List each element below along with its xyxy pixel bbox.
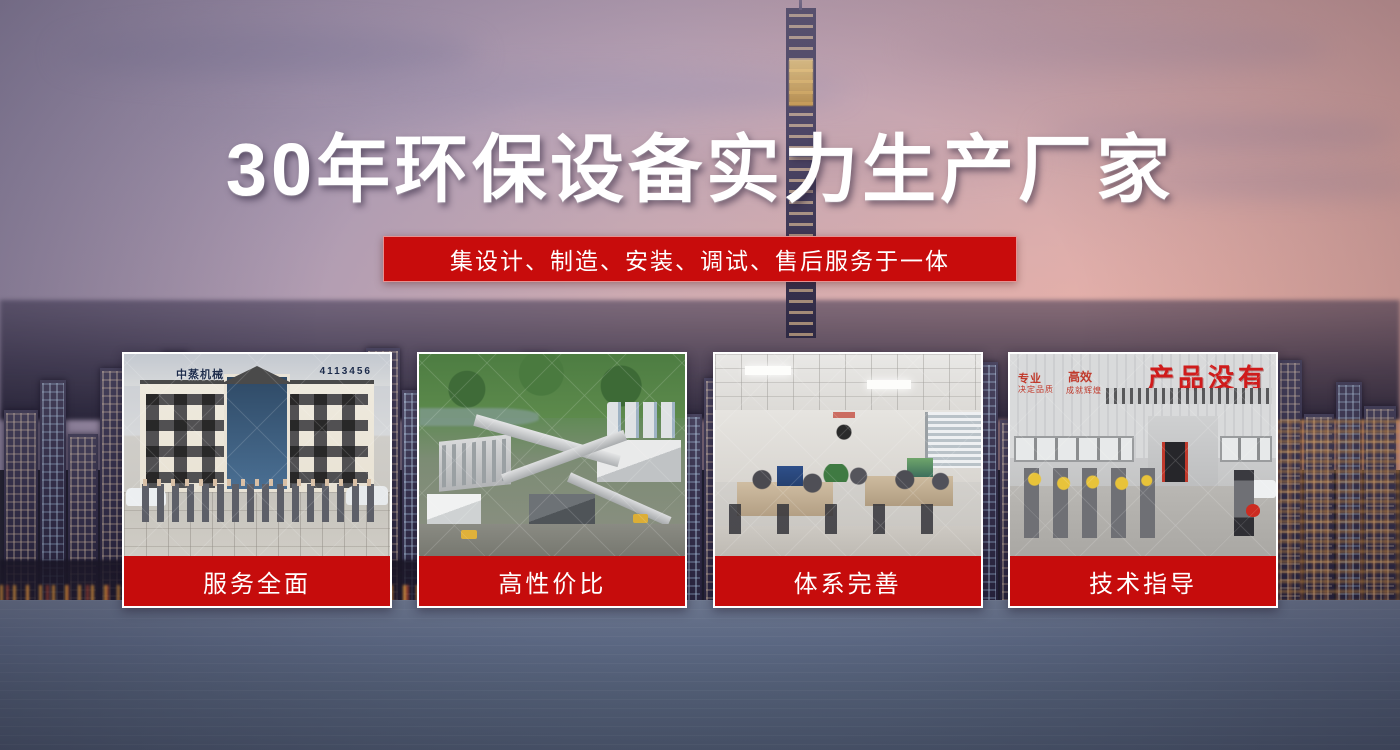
workers-training-photo: 决定品质 成就辉煌 专业 高效 产品没有 [1010, 354, 1276, 556]
factory-slogan-a: 专业 [1018, 370, 1042, 386]
industrial-plant-aerial-photo [419, 354, 685, 556]
card-label: 服务全面 [124, 556, 390, 606]
card-label: 高性价比 [419, 556, 685, 606]
cloud [60, 30, 480, 78]
river-water [0, 600, 1400, 750]
feature-card-system[interactable]: 体系完善 [713, 352, 983, 608]
card-label: 技术指导 [1010, 556, 1276, 606]
factory-slogan-b: 高效 [1068, 368, 1092, 385]
tower-crown-light [789, 60, 813, 106]
feature-card-row: 中蒸机械 4113456 服务全面 [122, 352, 1278, 608]
card-label: 体系完善 [715, 556, 981, 606]
feature-card-training[interactable]: 决定品质 成就辉煌 专业 高效 产品没有 技术指导 [1008, 352, 1278, 608]
subtitle-banner: 集设计、制造、安装、调试、售后服务于一体 [383, 236, 1017, 282]
feature-card-value[interactable]: 高性价比 [417, 352, 687, 608]
cloud [330, 70, 850, 110]
office-interior-photo [715, 354, 981, 556]
cloud [900, 28, 1330, 68]
promotional-banner: 30年环保设备实力生产厂家 集设计、制造、安装、调试、售后服务于一体 中蒸机械 … [0, 0, 1400, 750]
headline-title: 30年环保设备实力生产厂家 [0, 133, 1400, 207]
building-sign-number: 4113456 [320, 366, 372, 377]
company-headquarters-photo: 中蒸机械 4113456 [124, 354, 390, 556]
factory-slogan-d: 成就辉煌 [1066, 385, 1102, 396]
subtitle-text: 集设计、制造、安装、调试、售后服务于一体 [450, 242, 950, 276]
feature-card-service[interactable]: 中蒸机械 4113456 服务全面 [122, 352, 392, 608]
building-sign-text: 中蒸机械 [176, 366, 224, 382]
